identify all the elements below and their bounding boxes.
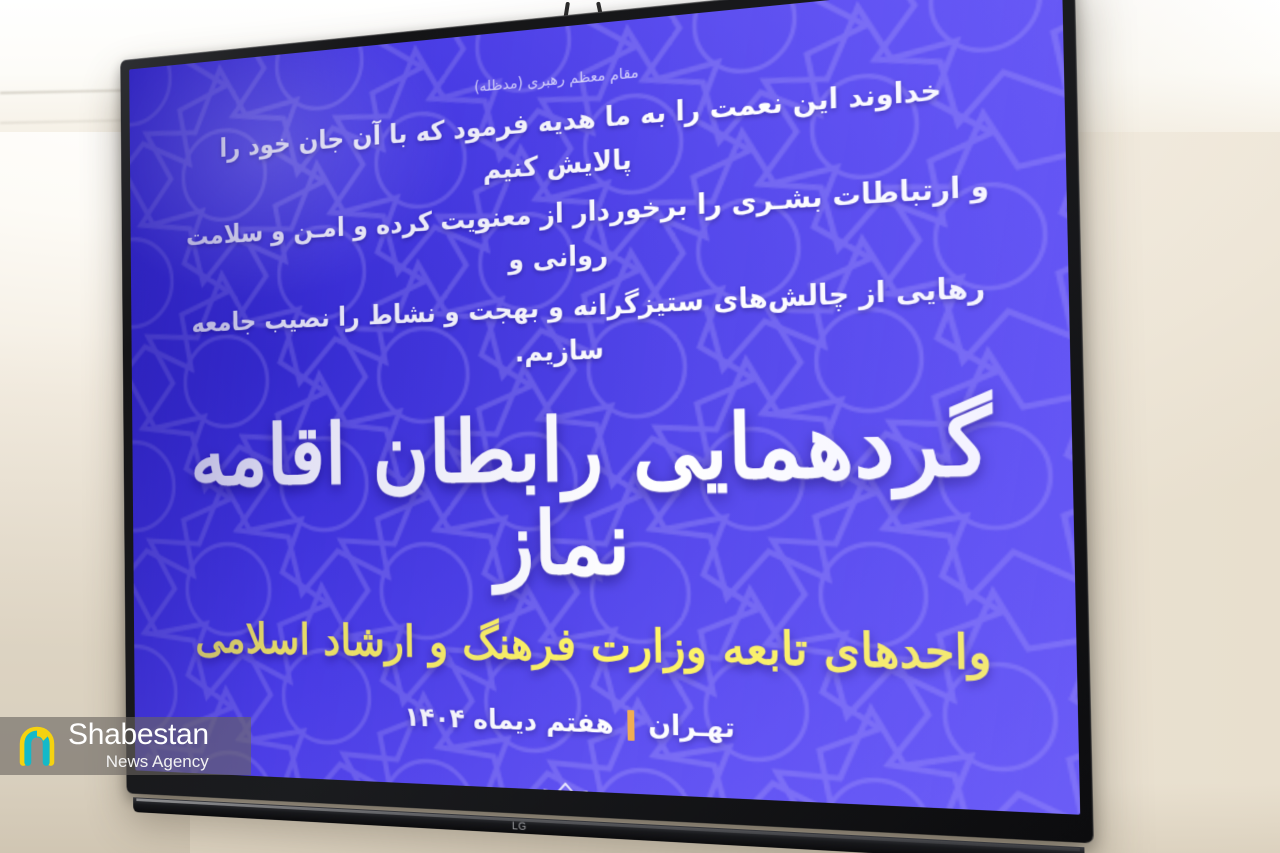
watermark-bar: Shabestan News Agency — [0, 717, 251, 775]
shabestan-logo-icon — [14, 721, 60, 771]
watermark-tagline: News Agency — [106, 753, 209, 770]
event-location: تهـران — [648, 710, 735, 745]
photo-canvas: مقام معظم رهبری (مدظله) خداوند این نعمت … — [0, 0, 1280, 853]
tv-screen: مقام معظم رهبری (مدظله) خداوند این نعمت … — [129, 0, 1080, 815]
watermark-title: Shabestan — [68, 720, 209, 750]
watermark-text: Shabestan News Agency — [68, 720, 209, 772]
meta-separator-icon — [627, 710, 634, 741]
presentation-slide: مقام معظم رهبری (مدظله) خداوند این نعمت … — [129, 0, 1080, 815]
